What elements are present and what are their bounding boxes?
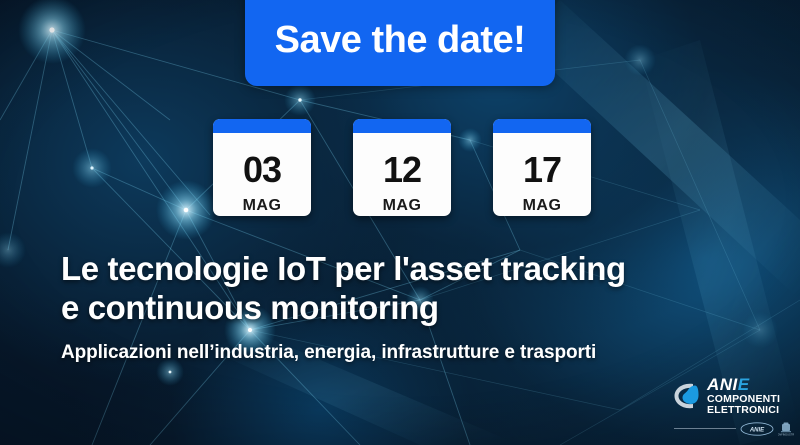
date-card-month: MAG xyxy=(523,198,562,214)
date-card-day: 12 xyxy=(383,152,421,188)
svg-text:ANIE: ANIE xyxy=(749,427,765,433)
anie-badge-icon: ANIE xyxy=(740,422,774,436)
logo-wordmark: ANIE COMPONENTI ELETTRONICI xyxy=(707,376,780,417)
logo-secondary-row: ANIE CONFINDUSTRIA xyxy=(672,421,794,437)
date-card-day: 17 xyxy=(523,152,561,188)
date-card: 17 MAG xyxy=(493,119,591,216)
calendar-header-bar-icon xyxy=(493,119,591,133)
date-card-month: MAG xyxy=(383,198,422,214)
confindustria-emblem-icon: CONFINDUSTRIA xyxy=(778,421,794,437)
date-card: 12 MAG xyxy=(353,119,451,216)
event-title-line1: Le tecnologie IoT per l'asset tracking xyxy=(61,250,626,287)
confindustria-caption: CONFINDUSTRIA xyxy=(778,432,794,436)
calendar-header-bar-icon xyxy=(213,119,311,133)
banner-label: Save the date! xyxy=(275,21,526,59)
save-the-date-banner: Save the date! xyxy=(245,0,555,86)
logo-subtitle-line2: ELETTRONICI xyxy=(707,405,780,416)
logo-name: ANIE xyxy=(707,376,780,393)
date-card-day: 03 xyxy=(243,152,281,188)
event-title: Le tecnologie IoT per l'asset tracking e… xyxy=(61,250,761,328)
logo-name-accent: E xyxy=(738,375,750,394)
save-the-date-poster: Save the date! 03 MAG 12 MAG 17 MAG Le t… xyxy=(0,0,800,445)
logo-divider-rule xyxy=(674,428,736,429)
anie-c-mark-icon xyxy=(672,381,702,411)
date-card-month: MAG xyxy=(243,198,282,214)
calendar-header-bar-icon xyxy=(353,119,451,133)
event-subtitle: Applicazioni nell’industria, energia, in… xyxy=(61,342,761,365)
logo-name-prefix: ANI xyxy=(707,375,738,394)
date-card: 03 MAG xyxy=(213,119,311,216)
anie-logo: ANIE COMPONENTI ELETTRONICI ANIE CONFIND… xyxy=(672,376,794,440)
date-card-list: 03 MAG 12 MAG 17 MAG xyxy=(213,119,591,216)
event-title-line2: e continuous monitoring xyxy=(61,289,761,328)
logo-primary-row: ANIE COMPONENTI ELETTRONICI xyxy=(672,376,794,417)
